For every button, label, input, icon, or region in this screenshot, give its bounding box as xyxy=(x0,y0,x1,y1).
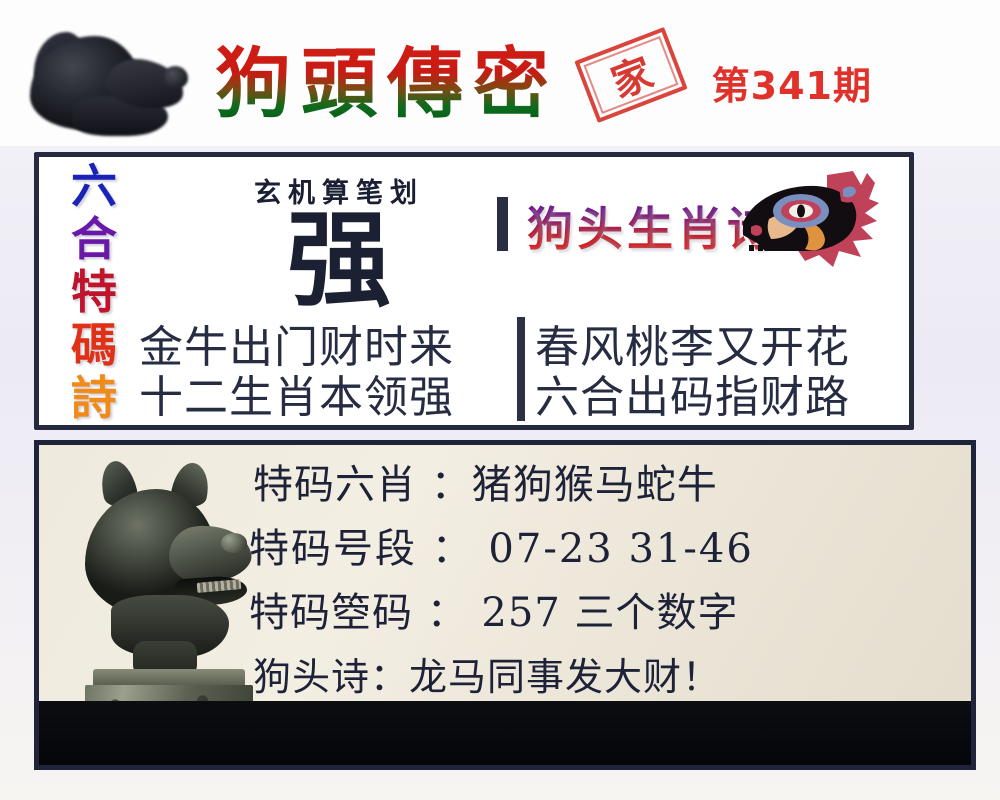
couplet-left-line-1: 金牛出门财时来 xyxy=(139,323,499,373)
couplet-right-line-1: 春风桃李又开花 xyxy=(535,323,907,373)
heading-accent-bar xyxy=(497,197,508,251)
vertical-title-char-1: 合 xyxy=(71,214,117,264)
bottom-line-2: 特码号段 ： 07-23 31-46 xyxy=(235,517,975,581)
featured-character: 强 xyxy=(189,205,489,315)
bottom-panel: 特码六肖 ：猪狗猴马蛇牛 特码号段 ： 07-23 31-46 特码箜码 ： 2… xyxy=(34,440,976,770)
middle-panel: 六 合 特 碼 詩 玄机算笔划 强 狗头生肖诗 xyxy=(34,152,914,430)
couplet-left: 金牛出门财时来 十二生肖本领强 xyxy=(139,323,499,423)
vertical-title-char-2: 特 xyxy=(71,267,117,317)
bottom-line-1: 特码六肖 ：猪狗猴马蛇牛 xyxy=(235,453,975,517)
bottom-text-lines: 特码六肖 ：猪狗猴马蛇牛 特码号段 ： 07-23 31-46 特码箜码 ： 2… xyxy=(235,453,975,709)
vertical-title-char-4: 詩 xyxy=(71,373,117,423)
couplet-divider xyxy=(517,317,525,421)
bottom-dark-band xyxy=(39,701,971,765)
vertical-title-column: 六 合 特 碼 詩 xyxy=(55,161,133,423)
dog-head-photo xyxy=(28,30,188,138)
couplet-left-line-2: 十二生肖本领强 xyxy=(139,373,499,423)
poster-root: 狗頭傳密 家 第341期 六 合 特 碼 詩 玄机算笔划 强 狗头生肖诗 xyxy=(0,0,1000,800)
bottom-line-3: 特码箜码 ： 257 三个数字 xyxy=(235,581,975,645)
header-band: 狗頭傳密 家 第341期 xyxy=(0,0,1000,146)
tribal-wolf-head-icon xyxy=(735,169,887,281)
bottom-line-4: 狗头诗：龙马同事发大财！ xyxy=(235,645,975,709)
couplet-right-line-2: 六合出码指财路 xyxy=(535,373,907,423)
vertical-title-char-3: 碼 xyxy=(71,320,117,370)
vertical-title-char-0: 六 xyxy=(71,161,117,211)
issue-number: 第341期 xyxy=(712,55,872,110)
couplet-right: 春风桃李又开花 六合出码指财路 xyxy=(535,323,907,423)
